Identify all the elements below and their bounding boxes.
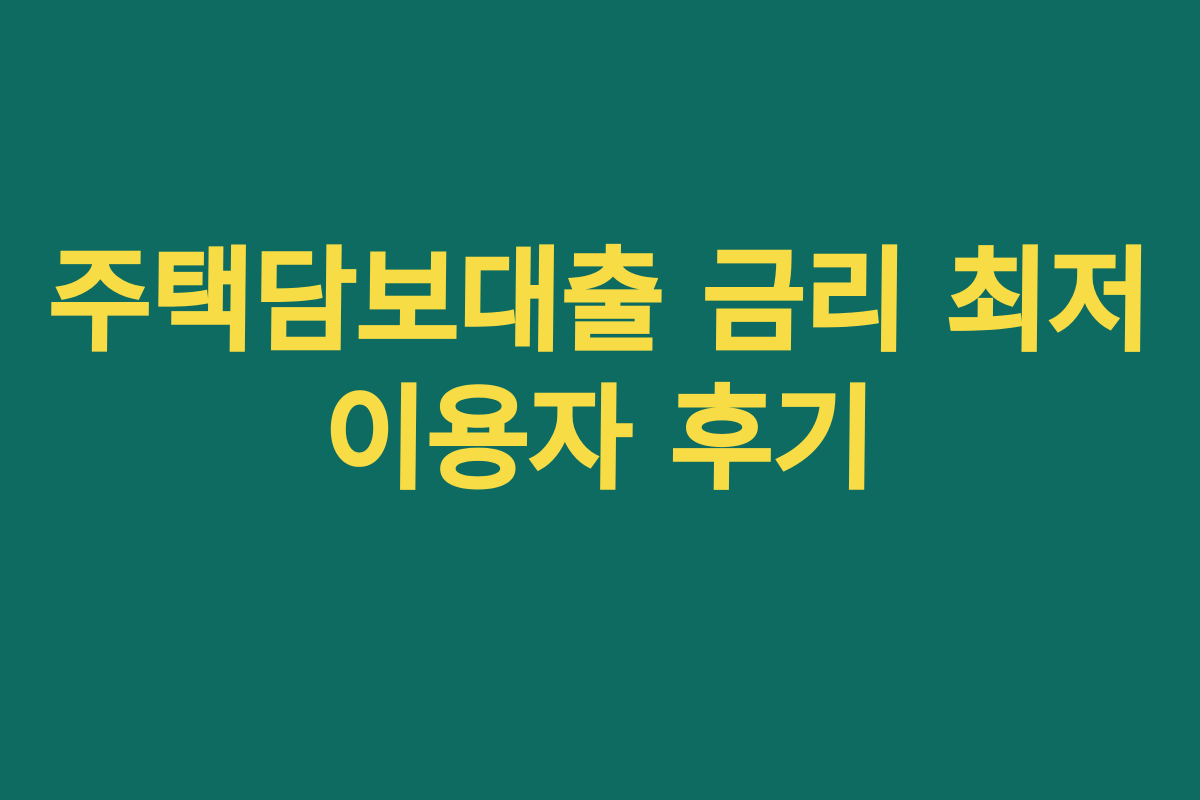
headline-line-2: 이용자 후기 bbox=[0, 371, 1200, 509]
headline-block: 주택담보대출 금리 최저 이용자 후기 bbox=[0, 233, 1200, 509]
headline-line-1: 주택담보대출 금리 최저 bbox=[0, 233, 1200, 371]
thumbnail-card: 주택담보대출 금리 최저 이용자 후기 bbox=[0, 0, 1200, 800]
